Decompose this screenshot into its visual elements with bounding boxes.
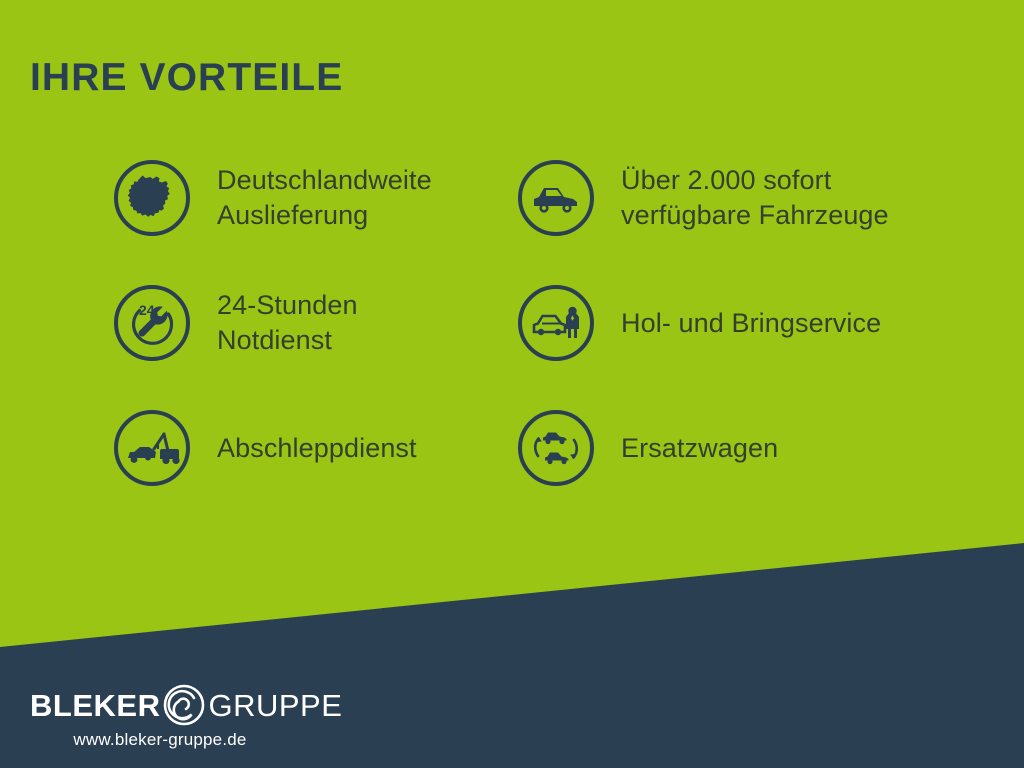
benefit-label: Ersatzwagen (621, 431, 778, 466)
benefit-item-24-stunden-notdienst[interactable]: 24 24-Stunden Notdienst (113, 284, 358, 362)
replacement-car-icon (517, 409, 595, 487)
24-hour-wrench-icon: 24 (113, 284, 191, 362)
benefit-item-verfuegbare-fahrzeuge[interactable]: Über 2.000 sofort verfügbare Fahrzeuge (517, 159, 889, 237)
benefit-label: Deutschlandweite Auslieferung (217, 163, 432, 232)
tow-truck-icon (113, 409, 191, 487)
benefit-item-hol-und-bringservice[interactable]: Hol- und Bringservice (517, 284, 881, 362)
slide-canvas: IHRE VORTEILE Deutschlandweite Ausliefer… (0, 0, 1024, 768)
benefit-item-deutschlandweite-auslieferung[interactable]: Deutschlandweite Auslieferung (113, 159, 432, 237)
benefit-label: Abschleppdienst (217, 431, 417, 466)
benefit-item-abschleppdienst[interactable]: Abschleppdienst (113, 409, 417, 487)
page-title: IHRE VORTEILE (30, 58, 343, 97)
benefit-label: 24-Stunden Notdienst (217, 288, 358, 357)
spiral-icon (161, 682, 207, 728)
logo-wordmark: BLEKER GRUPPE (30, 683, 290, 727)
car-icon (517, 159, 595, 237)
footer-logo[interactable]: BLEKER GRUPPE www.bleker-gruppe.de (30, 683, 290, 750)
car-with-driver-icon (517, 284, 595, 362)
germany-map-icon (113, 159, 191, 237)
benefit-item-ersatzwagen[interactable]: Ersatzwagen (517, 409, 778, 487)
green-background-panel (0, 0, 1024, 768)
benefit-label: Hol- und Bringservice (621, 306, 881, 341)
benefit-label: Über 2.000 sofort verfügbare Fahrzeuge (621, 163, 889, 232)
footer-website-url[interactable]: www.bleker-gruppe.de (30, 730, 290, 750)
logo-primary-text: BLEKER (30, 690, 160, 721)
logo-secondary-text: GRUPPE (208, 690, 342, 721)
